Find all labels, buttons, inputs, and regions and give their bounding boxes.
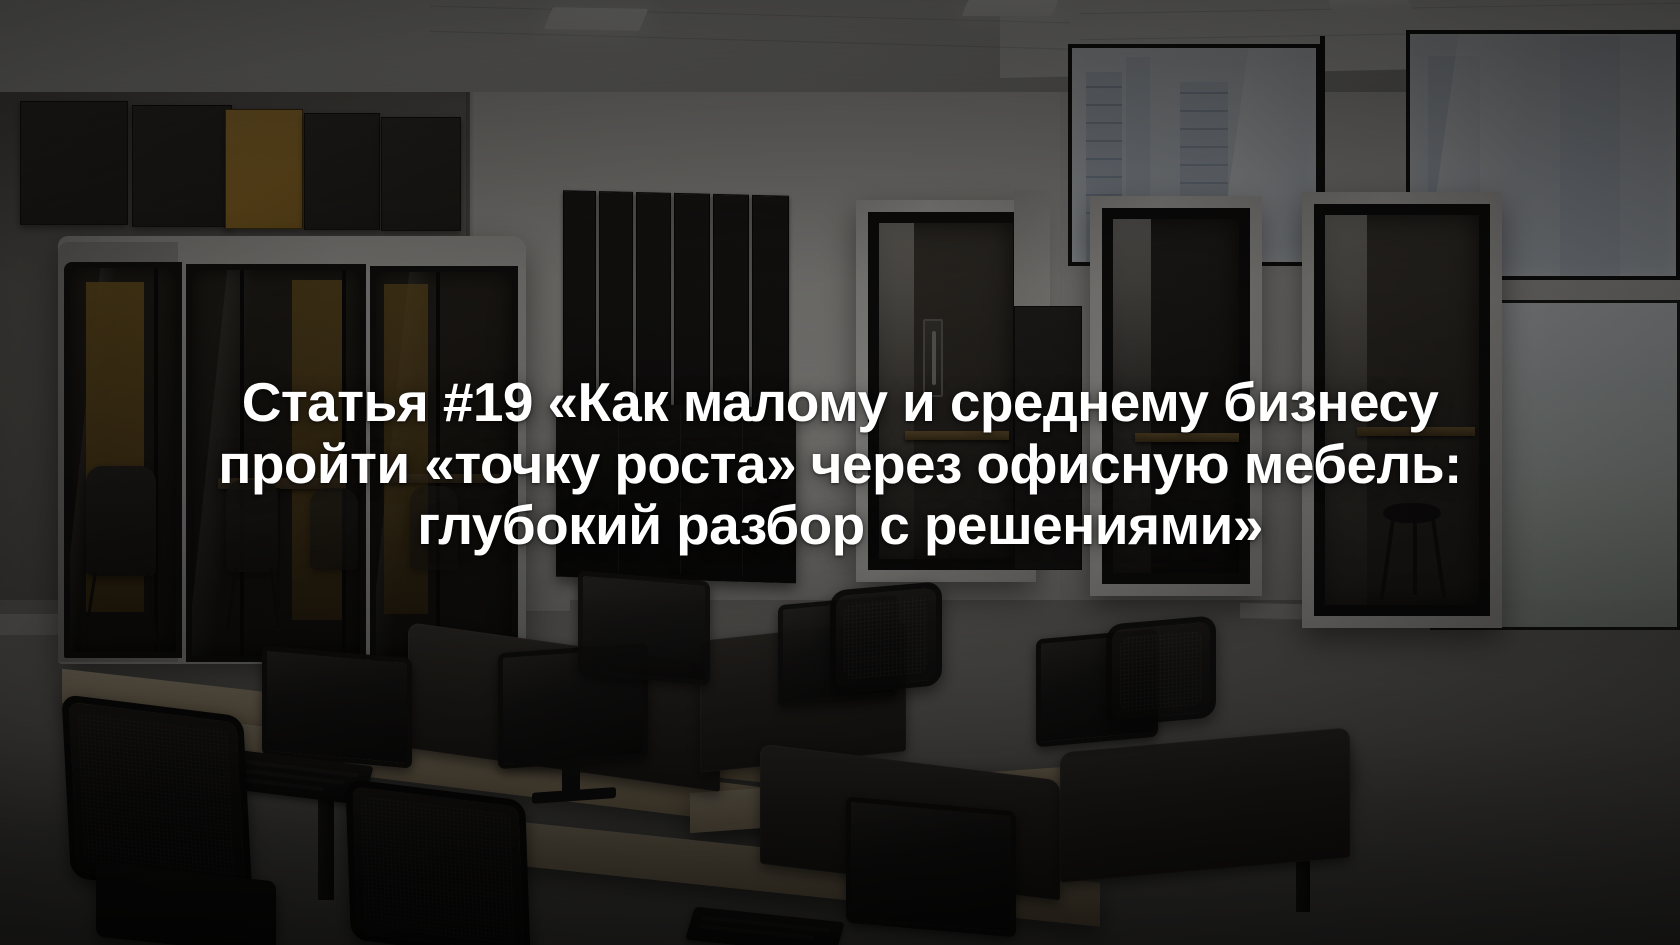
title-line-3: глубокий разбор с решениями»	[218, 495, 1462, 557]
title-line-2: пройти «точку роста» через офисную мебел…	[218, 434, 1462, 496]
page-title: Статья #19 «Как малому и среднему бизнес…	[218, 372, 1462, 557]
title-line-1: Статья #19 «Как малому и среднему бизнес…	[218, 372, 1462, 434]
title-overlay: Статья #19 «Как малому и среднему бизнес…	[0, 0, 1680, 945]
article-cover: Статья #19 «Как малому и среднему бизнес…	[0, 0, 1680, 945]
